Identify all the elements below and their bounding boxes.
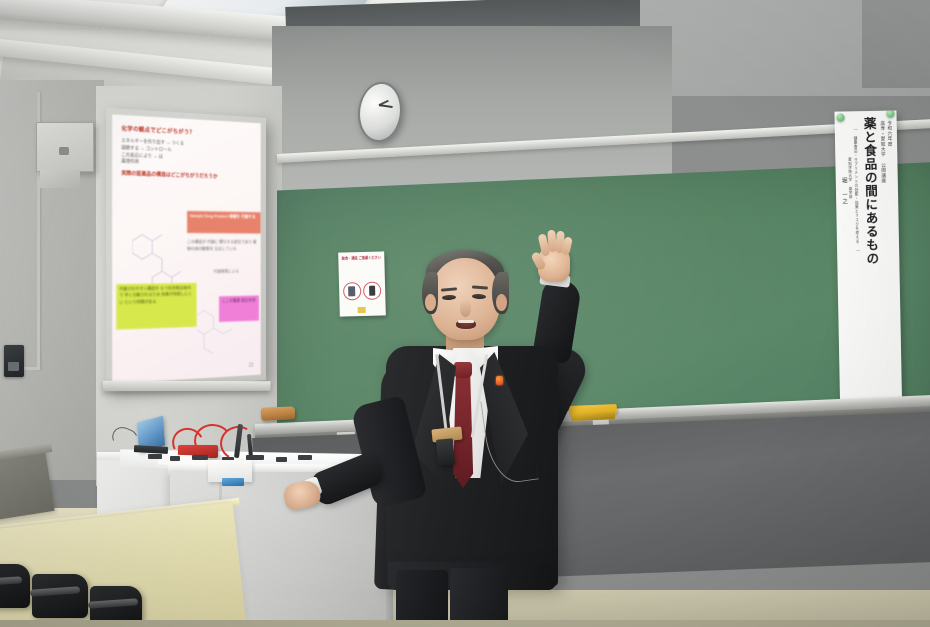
floor-bottom-edge [0, 620, 930, 627]
chair-row [0, 560, 228, 627]
presenter-ear [425, 294, 436, 311]
blackboard-eraser[interactable] [261, 406, 296, 420]
presenter-figure [300, 250, 620, 627]
presenter-teeth [458, 320, 474, 323]
slide-highlight-orange: Sample Drug Product 候補を 代謝する [187, 211, 261, 234]
presenter-trouser-leg [396, 570, 448, 627]
presenter-nose [460, 300, 471, 317]
wall-speaker-base [40, 170, 80, 188]
projection-screen-bottom-bar [103, 381, 271, 391]
laptop-computer[interactable] [132, 419, 168, 453]
presenter-ear [496, 294, 507, 311]
presenter-necktie-knot [454, 362, 472, 378]
folding-chair[interactable] [32, 574, 88, 618]
wireless-microphone-pack [436, 438, 455, 465]
presenter-raised-hand [534, 234, 574, 282]
slide-highlight-pink: ここが重要 相互作用 [219, 295, 259, 322]
projection-screen: 化学の観点でどこがちがう？ エネルギーを作り出す → つくる 調節する → コン… [106, 108, 266, 390]
lecture-room-photograph: 飲食・通話 ご遠慮ください 令和六年度 高専・愛知大学 公開講座 薬と食品の間に… [0, 0, 930, 627]
slide-page-number: 22 [249, 362, 254, 368]
presenter-trouser-leg [450, 568, 508, 627]
wall-mounted-speaker [36, 122, 94, 172]
slide-subheading: 実際の医薬品の構造はどこがちがうだろうか [121, 170, 252, 182]
electrical-outlet-plate[interactable] [4, 345, 24, 377]
slide-body-right: この構造が 代謝に 関与する部位であり 薬物の体内動態を 左右している [187, 239, 259, 252]
presenter-lapel-pin [496, 376, 503, 385]
right-wall-corner [862, 0, 930, 88]
blue-device[interactable] [222, 478, 244, 486]
slide-note: 代謝酵素による [213, 269, 239, 275]
blackboard-top-rail [277, 119, 930, 163]
slide-highlight-green: 代謝されやすい構造を もつ化合物は体内で 早く分解されるため 効果が持続しにくい… [116, 283, 196, 330]
cable-conduit-horizontal [22, 367, 40, 370]
folding-chair[interactable] [0, 564, 30, 608]
projected-slide: 化学の観点でどこがちがう？ エネルギーを作り出す → つくる 調節する → コン… [112, 114, 261, 383]
